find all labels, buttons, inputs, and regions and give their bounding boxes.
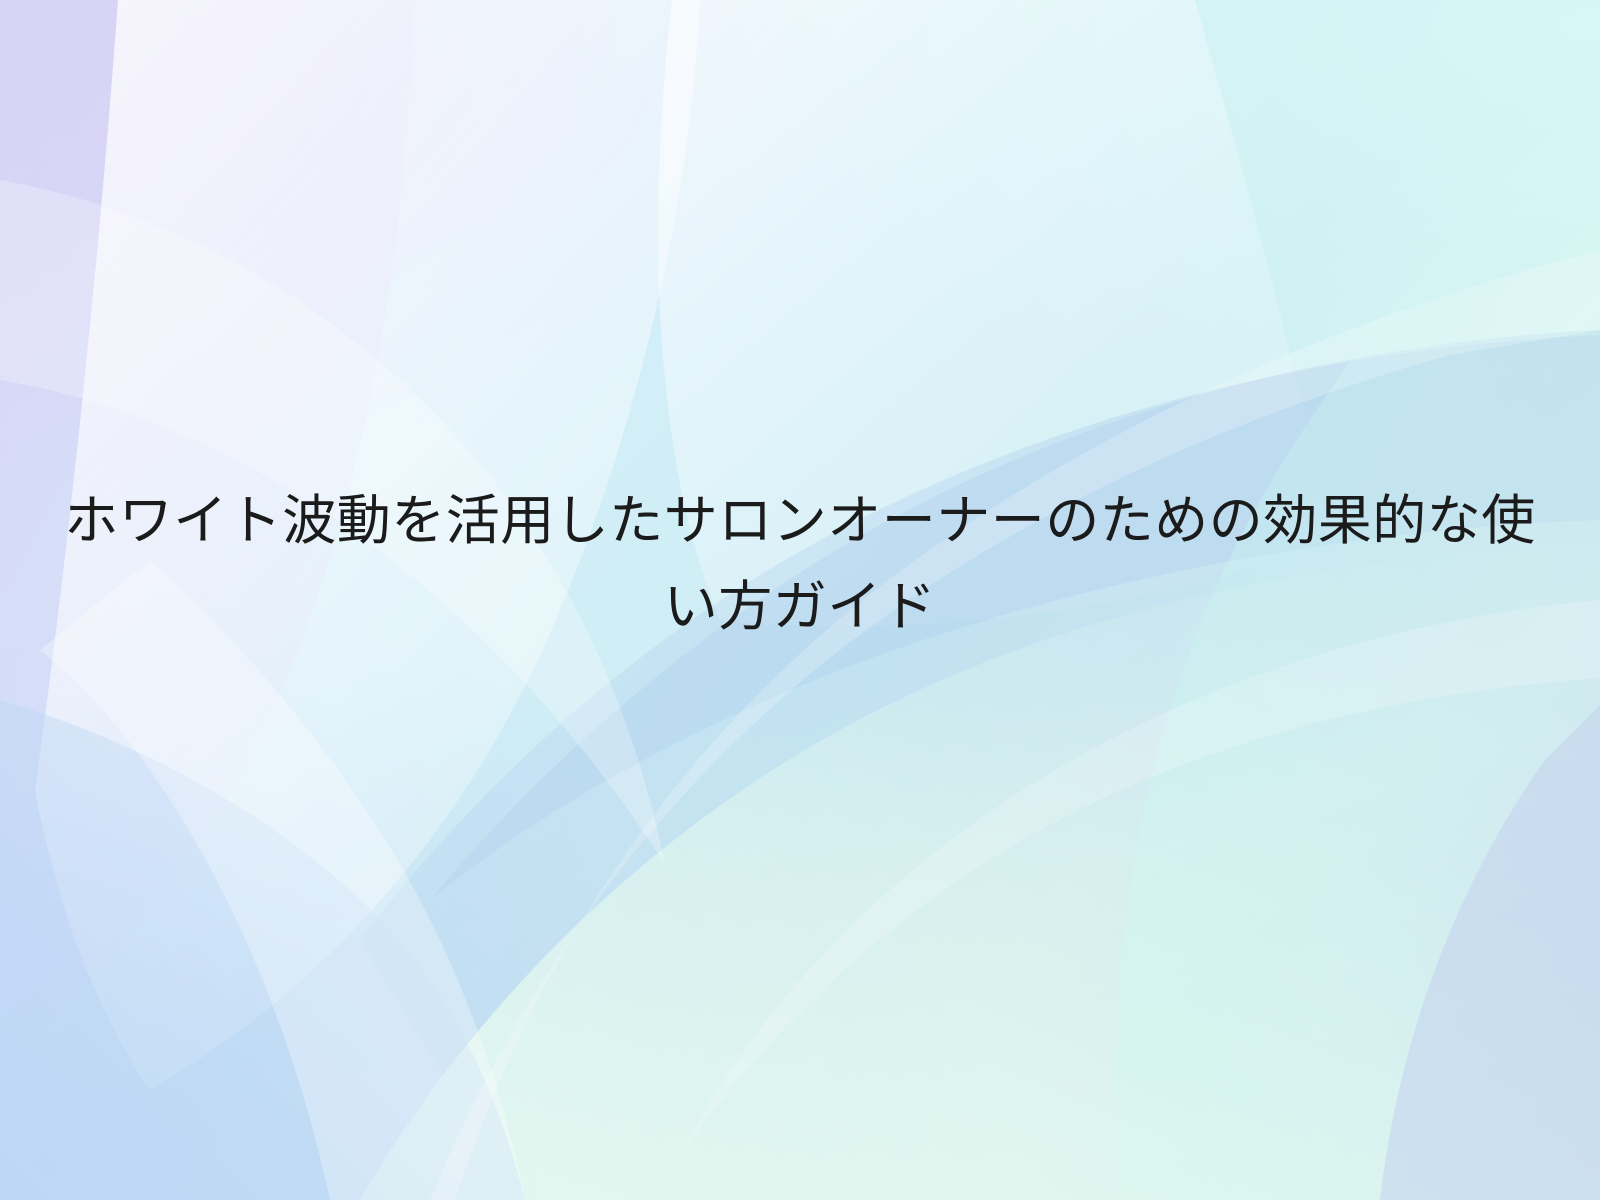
shape-light-blade-lower-left <box>40 560 525 1200</box>
title-block: ホワイト波動を活用したサロンオーナーのための効果的な使い方ガイド <box>0 478 1600 650</box>
shape-softblue-wedge-bottom-left <box>0 700 525 1200</box>
shape-arc-highlight-right <box>680 600 1600 1155</box>
title-slide: ホワイト波動を活用したサロンオーナーのための効果的な使い方ガイド <box>0 0 1600 1200</box>
shape-pale-sliver-center <box>430 250 1600 1200</box>
shape-blue-lens-band <box>360 335 1600 1200</box>
shape-periwinkle-corner <box>1380 705 1600 1200</box>
page-title: ホワイト波動を活用したサロンオーナーのための効果的な使い方ガイド <box>38 478 1562 650</box>
